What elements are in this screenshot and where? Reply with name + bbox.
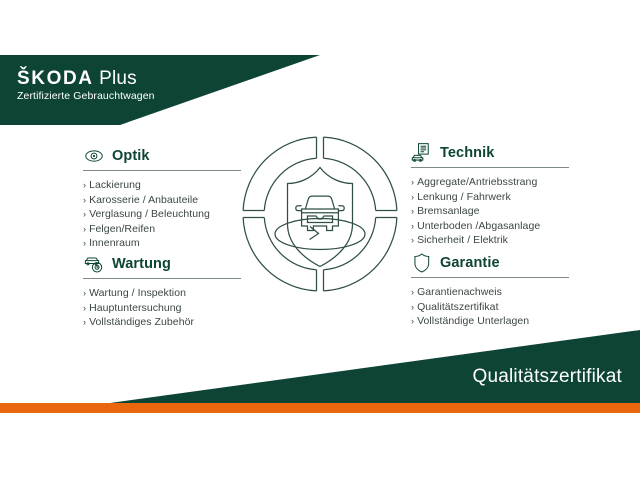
list-item: ›Wartung / Inspektion	[83, 286, 241, 301]
shield-icon	[411, 252, 433, 274]
section-wartung-divider	[83, 278, 241, 279]
eye-icon	[83, 145, 105, 167]
list-item-label: Unterboden /Abgasanlage	[417, 220, 540, 232]
list-item: ›Vollständige Unterlagen	[411, 314, 569, 329]
chevron-right-icon: ›	[411, 192, 414, 202]
chevron-right-icon: ›	[411, 235, 414, 245]
chevron-right-icon: ›	[83, 180, 86, 190]
chevron-right-icon: ›	[83, 209, 86, 219]
certified-vehicle-emblem	[238, 132, 402, 296]
section-technik-list: ›Aggregate/Antriebsstrang ›Lenkung / Fah…	[411, 175, 569, 248]
section-garantie: Garantie ›Garantienachweis ›Qualitätszer…	[411, 252, 569, 329]
list-item-label: Vollständige Unterlagen	[417, 315, 529, 327]
list-item-label: Verglasung / Beleuchtung	[89, 208, 210, 220]
chevron-right-icon: ›	[411, 287, 414, 297]
section-wartung-list: ›Wartung / Inspektion ›Hauptuntersuchung…	[83, 286, 241, 330]
list-item: ›Lenkung / Fahrwerk	[411, 190, 569, 205]
list-item-label: Lenkung / Fahrwerk	[417, 191, 511, 203]
list-item: ›Verglasung / Beleuchtung	[83, 207, 241, 222]
list-item: ›Lackierung	[83, 178, 241, 193]
section-technik-header: Technik	[411, 142, 569, 164]
chevron-right-icon: ›	[83, 195, 86, 205]
brand-skoda-wordmark: ŠKODA	[17, 68, 94, 89]
section-wartung-title: Wartung	[112, 256, 171, 272]
list-item-label: Aggregate/Antriebsstrang	[417, 176, 537, 188]
certificate-page: ŠKODA Plus Zertifizierte Gebrauchtwagen …	[0, 0, 640, 480]
list-item: ›Unterboden /Abgasanlage	[411, 219, 569, 234]
section-garantie-list: ›Garantienachweis ›Qualitätszertifikat ›…	[411, 285, 569, 329]
list-item-label: Qualitätszertifikat	[417, 301, 498, 313]
chevron-right-icon: ›	[411, 206, 414, 216]
section-optik-list: ›Lackierung ›Karosserie / Anbauteile ›Ve…	[83, 178, 241, 251]
list-item-label: Lackierung	[89, 179, 141, 191]
list-item-label: Garantienachweis	[417, 286, 502, 298]
orange-accent-stripe	[0, 403, 640, 413]
list-item-label: Hauptuntersuchung	[89, 302, 182, 314]
list-item: ›Qualitätszertifikat	[411, 300, 569, 315]
chevron-right-icon: ›	[411, 316, 414, 326]
list-item-label: Wartung / Inspektion	[89, 287, 186, 299]
list-item-label: Felgen/Reifen	[89, 223, 155, 235]
chevron-right-icon: ›	[83, 288, 86, 298]
chevron-right-icon: ›	[83, 238, 86, 248]
chevron-right-icon: ›	[411, 302, 414, 312]
section-optik-divider	[83, 170, 241, 171]
list-item: ›Sicherheit / Elektrik	[411, 233, 569, 248]
list-item-label: Sicherheit / Elektrik	[417, 234, 508, 246]
section-technik: Technik ›Aggregate/Antriebsstrang ›Lenku…	[411, 142, 569, 248]
section-technik-divider	[411, 167, 569, 168]
brand-name-line: ŠKODA Plus	[17, 68, 155, 89]
list-item-label: Bremsanlage	[417, 205, 479, 217]
chevron-right-icon: ›	[83, 303, 86, 313]
list-item-label: Innenraum	[89, 237, 140, 249]
list-item: ›Karosserie / Anbauteile	[83, 193, 241, 208]
list-item: ›Hauptuntersuchung	[83, 301, 241, 316]
list-item: ›Vollständiges Zubehör	[83, 315, 241, 330]
section-optik-title: Optik	[112, 148, 150, 164]
list-item-label: Vollständiges Zubehör	[89, 316, 194, 328]
section-technik-title: Technik	[440, 145, 494, 161]
section-garantie-title: Garantie	[440, 255, 500, 271]
chevron-right-icon: ›	[83, 224, 86, 234]
list-item: ›Garantienachweis	[411, 285, 569, 300]
list-item-label: Karosserie / Anbauteile	[89, 194, 198, 206]
section-garantie-divider	[411, 277, 569, 278]
car-document-icon	[411, 142, 433, 164]
chevron-right-icon: ›	[411, 221, 414, 231]
section-wartung: Wartung ›Wartung / Inspektion ›Hauptunte…	[83, 253, 241, 330]
list-item: ›Innenraum	[83, 236, 241, 251]
footer-title: Qualitätszertifikat	[472, 366, 622, 388]
brand-tagline: Zertifizierte Gebrauchtwagen	[17, 90, 155, 103]
list-item: ›Bremsanlage	[411, 204, 569, 219]
section-optik: Optik ›Lackierung ›Karosserie / Anbautei…	[83, 145, 241, 251]
list-item: ›Felgen/Reifen	[83, 222, 241, 237]
brand-logo: ŠKODA Plus Zertifizierte Gebrauchtwagen	[17, 68, 155, 103]
car-service-icon	[83, 253, 105, 275]
list-item: ›Aggregate/Antriebsstrang	[411, 175, 569, 190]
section-optik-header: Optik	[83, 145, 241, 167]
chevron-right-icon: ›	[411, 177, 414, 187]
section-garantie-header: Garantie	[411, 252, 569, 274]
section-wartung-header: Wartung	[83, 253, 241, 275]
brand-plus-wordmark: Plus	[99, 68, 137, 89]
chevron-right-icon: ›	[83, 317, 86, 327]
